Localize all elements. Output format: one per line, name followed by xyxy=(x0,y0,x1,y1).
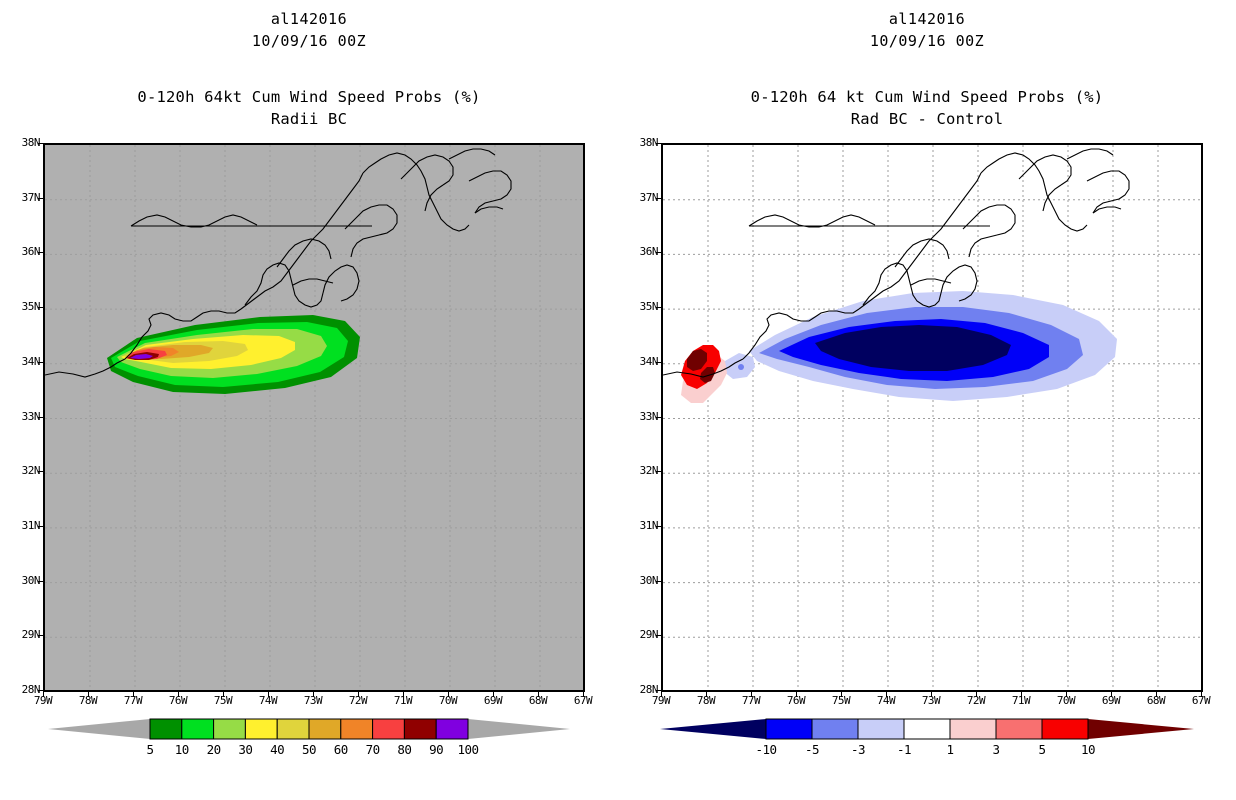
ytick-label: 32N xyxy=(618,464,658,477)
ytick-label: 38N xyxy=(618,136,658,149)
cb-label: 10 xyxy=(1068,742,1108,757)
ytick-label: 28N xyxy=(618,683,658,696)
ytick-label: 30N xyxy=(0,574,40,587)
xtick-label: 74W xyxy=(245,694,291,707)
storm-id-left: al142016 xyxy=(0,10,618,28)
ytick-label: 35N xyxy=(0,300,40,313)
xtick-label: 71W xyxy=(998,694,1044,707)
chart-title-right: 0-120h 64 kt Cum Wind Speed Probs (%) xyxy=(618,88,1236,106)
chart-title-left: 0-120h 64kt Cum Wind Speed Probs (%) xyxy=(0,88,618,106)
colorbar-right: -10 -5 -3 -1 1 3 5 10 xyxy=(618,712,1236,772)
cb-label: 3 xyxy=(976,742,1016,757)
xtick-label: 69W xyxy=(470,694,516,707)
gridlines-right xyxy=(663,145,1203,692)
xtick-label: 77W xyxy=(728,694,774,707)
ytick-label: 28N xyxy=(0,683,40,696)
colorbar-high-cap xyxy=(1088,719,1194,739)
cb-label: -3 xyxy=(838,742,878,757)
xtick-label: 76W xyxy=(773,694,819,707)
xtick-label: 75W xyxy=(818,694,864,707)
ytick-label: 36N xyxy=(0,245,40,258)
difference-field-right xyxy=(663,145,1203,692)
map-plot-left xyxy=(43,143,585,692)
xtick-label: 73W xyxy=(290,694,336,707)
xtick-label: 67W xyxy=(1178,694,1224,707)
datetime-right: 10/09/16 00Z xyxy=(618,32,1236,50)
xtick-label: 70W xyxy=(425,694,471,707)
cb-label: 1 xyxy=(930,742,970,757)
xtick-label: 68W xyxy=(515,694,561,707)
datetime-left: 10/09/16 00Z xyxy=(0,32,618,50)
ytick-label: 30N xyxy=(618,574,658,587)
xtick-label: 72W xyxy=(953,694,999,707)
xtick-label: 70W xyxy=(1043,694,1089,707)
xtick-label: 76W xyxy=(155,694,201,707)
colorbar-low-cap xyxy=(48,719,150,739)
xtick-label: 68W xyxy=(1133,694,1179,707)
chart-subtitle-right: Rad BC - Control xyxy=(618,110,1236,128)
figure-root: al142016 10/09/16 00Z 0-120h 64kt Cum Wi… xyxy=(0,0,1236,800)
cb-label: 5 xyxy=(1022,742,1062,757)
xtick-label: 75W xyxy=(200,694,246,707)
difference-contours xyxy=(681,291,1117,403)
xtick-label: 71W xyxy=(380,694,426,707)
ytick-label: 37N xyxy=(618,191,658,204)
cb-label: -5 xyxy=(792,742,832,757)
ytick-label: 29N xyxy=(618,628,658,641)
ytick-label: 33N xyxy=(0,410,40,423)
ytick-label: 34N xyxy=(0,355,40,368)
ytick-label: 31N xyxy=(0,519,40,532)
bay-outline-left xyxy=(131,215,257,227)
ytick-label: 31N xyxy=(618,519,658,532)
ytick-label: 37N xyxy=(0,191,40,204)
gridlines-left xyxy=(45,145,585,692)
ytick-label: 32N xyxy=(0,464,40,477)
colorbar-left: 5 10 20 30 40 50 60 70 80 90 100 xyxy=(0,712,618,772)
ytick-label: 34N xyxy=(618,355,658,368)
xtick-label: 73W xyxy=(908,694,954,707)
ytick-label: 35N xyxy=(618,300,658,313)
xtick-label: 78W xyxy=(683,694,729,707)
bay-outline-right xyxy=(749,215,875,227)
probability-contours xyxy=(107,315,360,394)
panel-rad-bc-minus-control: al142016 10/09/16 00Z 0-120h 64 kt Cum W… xyxy=(618,0,1236,800)
chart-subtitle-left: Radii BC xyxy=(0,110,618,128)
panel-radii-bc: al142016 10/09/16 00Z 0-120h 64kt Cum Wi… xyxy=(0,0,618,800)
colorbar-low-cap xyxy=(660,719,766,739)
ytick-label: 38N xyxy=(0,136,40,149)
map-plot-right xyxy=(661,143,1203,692)
xtick-label: 78W xyxy=(65,694,111,707)
xtick-label: 69W xyxy=(1088,694,1134,707)
xtick-label: 72W xyxy=(335,694,381,707)
storm-id-right: al142016 xyxy=(618,10,1236,28)
ytick-label: 33N xyxy=(618,410,658,423)
cb-label: 100 xyxy=(448,742,488,757)
ytick-label: 36N xyxy=(618,245,658,258)
contour-field-left xyxy=(45,145,585,692)
xtick-label: 74W xyxy=(863,694,909,707)
cb-label: -1 xyxy=(884,742,924,757)
cb-label: -10 xyxy=(746,742,786,757)
colorbar-high-cap xyxy=(468,719,570,739)
xtick-label: 67W xyxy=(560,694,606,707)
ytick-label: 29N xyxy=(0,628,40,641)
xtick-label: 77W xyxy=(110,694,156,707)
